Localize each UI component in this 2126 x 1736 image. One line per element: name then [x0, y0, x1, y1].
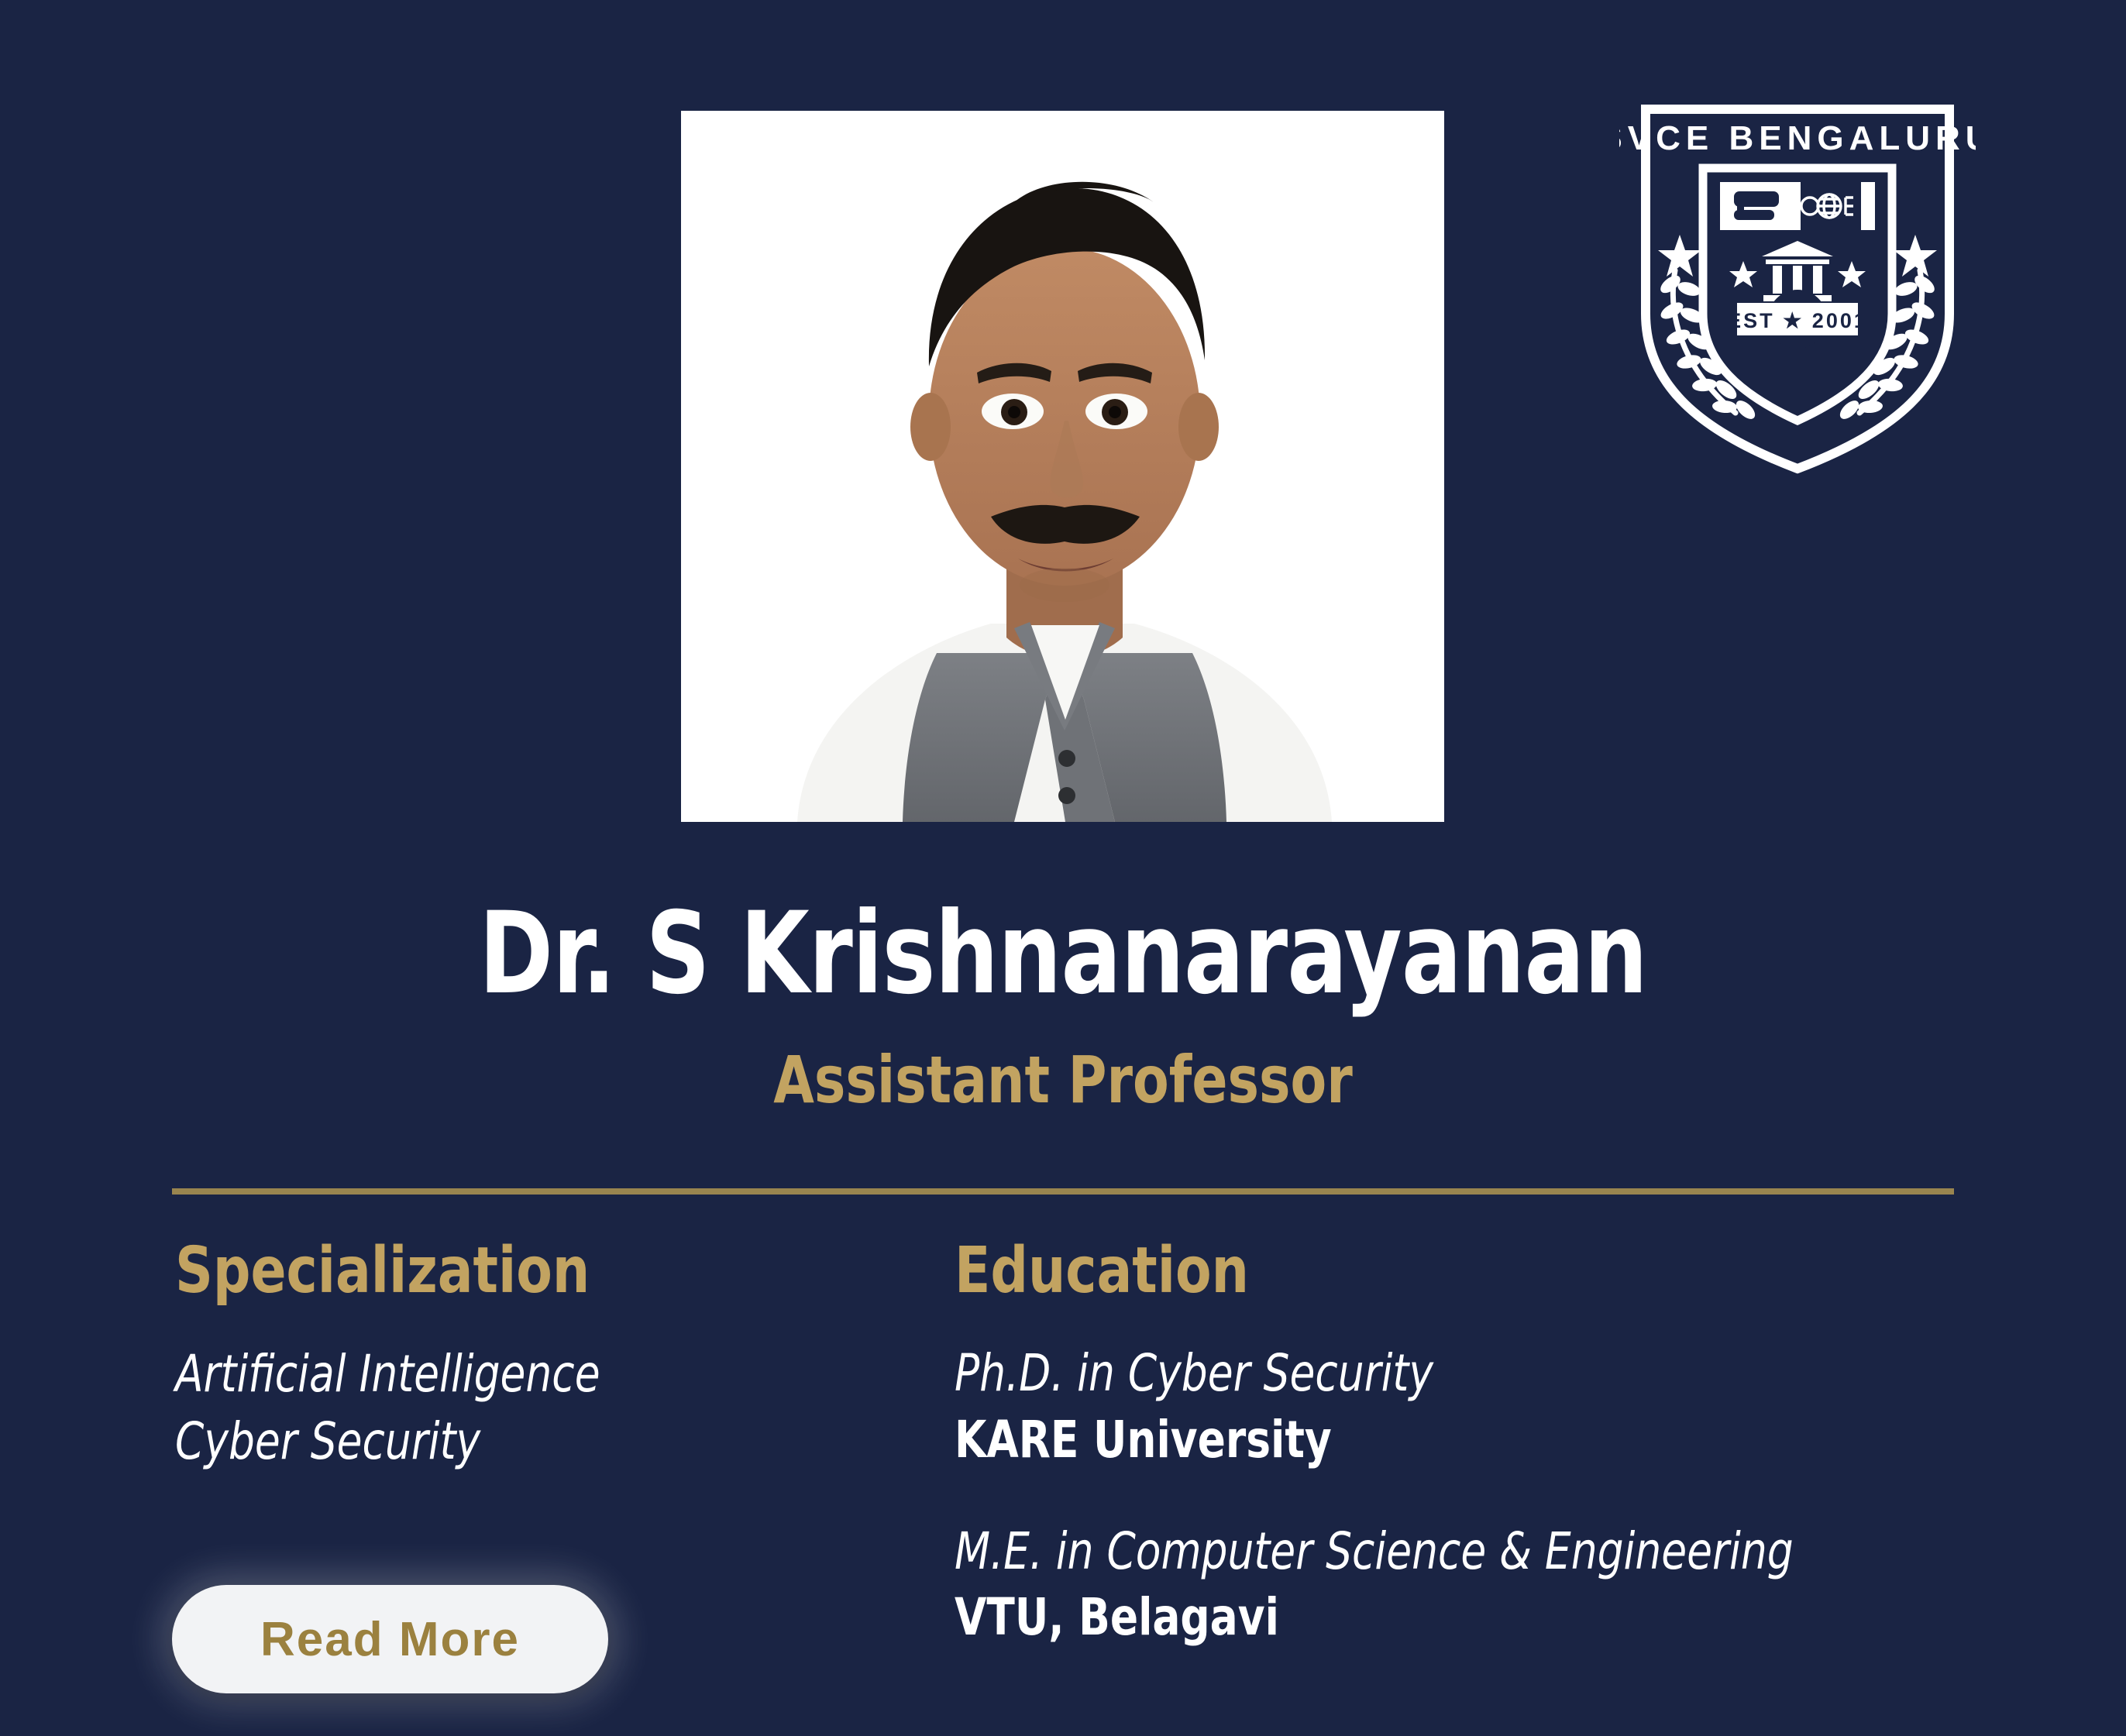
crest-est-text: EST ★ 2001: [1727, 309, 1868, 332]
faculty-portrait-photo: [681, 111, 1444, 822]
read-more-button[interactable]: Read More: [172, 1585, 608, 1693]
faculty-name: Dr. S Krishnanarayanan: [128, 895, 1999, 1013]
specialization-column: Specialization Artificial Intelligence C…: [175, 1239, 903, 1475]
specialization-heading: Specialization: [175, 1239, 845, 1303]
education-degree: Ph.D. in Cyber Security: [955, 1340, 1931, 1407]
education-column: Education Ph.D. in Cyber Security KARE U…: [955, 1239, 2039, 1651]
crest-arc-text: SVCE BENGALURU: [1619, 119, 1976, 157]
education-entry: Ph.D. in Cyber Security KARE University: [955, 1340, 2039, 1473]
section-divider: [172, 1188, 1954, 1195]
education-entry: M.E. in Computer Science & Engineering V…: [955, 1518, 2039, 1652]
specialization-item: Cyber Security: [175, 1408, 831, 1475]
education-institution: KARE University: [955, 1407, 1931, 1473]
education-degree: M.E. in Computer Science & Engineering: [955, 1518, 1931, 1585]
faculty-designation: Assistant Professor: [106, 1044, 2020, 1116]
faculty-profile-card: SVCE BENGALURU: [0, 0, 2126, 1736]
education-heading: Education: [955, 1239, 1952, 1303]
svce-crest-logo: SVCE BENGALURU: [1619, 81, 1976, 476]
education-institution: VTU, Belagavi: [955, 1584, 1931, 1651]
specialization-item: Artificial Intelligence: [175, 1340, 831, 1408]
